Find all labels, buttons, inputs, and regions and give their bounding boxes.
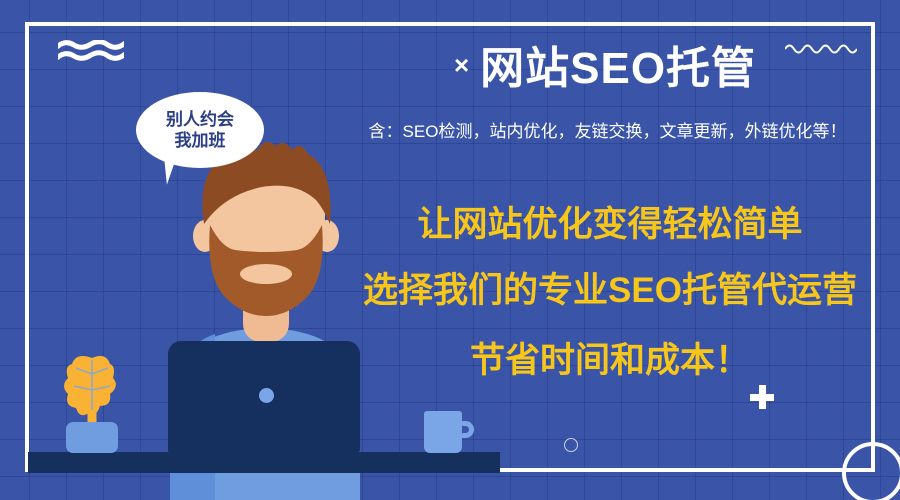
cross-mark-icon: × bbox=[454, 50, 470, 80]
speech-bubble-line-1: 别人约会 bbox=[166, 109, 234, 130]
tagline-line-1: 让网站优化变得轻松简单 bbox=[330, 196, 890, 247]
page-title-text: 网站SEO托管 bbox=[480, 44, 756, 93]
speech-bubble-line-2: 我加班 bbox=[175, 130, 226, 151]
coffee-mug-icon bbox=[424, 411, 462, 453]
page-title: ×网站SEO托管 bbox=[330, 46, 880, 92]
plant-pot bbox=[66, 422, 118, 453]
desk-surface bbox=[28, 452, 500, 473]
tagline-line-3: 节省时间和成本！ bbox=[330, 332, 890, 383]
laptop-logo-icon bbox=[259, 388, 274, 403]
potted-plant-icon bbox=[60, 348, 124, 430]
subtitle-text: 含：SEO检测，站内优化，友链交换，文章更新，外链优化等！ bbox=[330, 117, 885, 142]
speech-bubble: 别人约会 我加班 bbox=[136, 92, 264, 168]
seo-hosting-banner: 别人约会 我加班 ×网站SEO托管 含：SEO检测，站内优化，友链交换，文章更新… bbox=[0, 0, 900, 500]
tagline-line-2: 选择我们的专业SEO托管代运营 bbox=[330, 262, 890, 313]
